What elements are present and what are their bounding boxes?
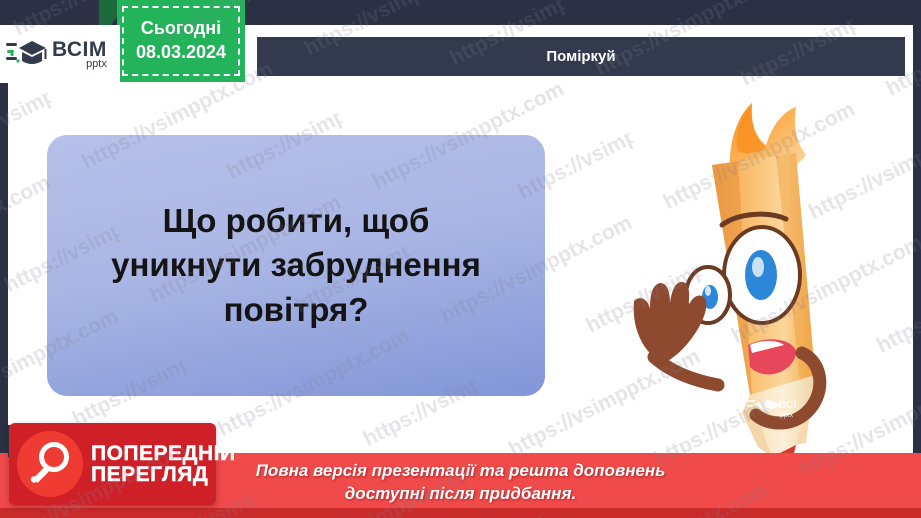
svg-text:pptx: pptx	[780, 412, 794, 419]
preview-badge-line2: ПЕРЕГЛЯД	[91, 464, 236, 485]
question-card: Що робити, щоб уникнути забруднення пові…	[47, 135, 545, 396]
date-flag-value: 08.03.2024	[136, 42, 226, 64]
brand-logo-text: ВСІМ pptx	[52, 39, 107, 70]
brand-name: ВСІМ	[52, 39, 107, 60]
date-flag-label: Сьогодні	[141, 18, 221, 40]
graduation-cap-icon	[6, 37, 48, 71]
presentation-slide: Поміркуй Сьогодні 08.03.2024 ВСІМ pptx	[0, 0, 921, 518]
preview-badge-labels: ПОПЕРЕДНІЙ ПЕРЕГЛЯД	[91, 443, 236, 485]
preview-badge[interactable]: ПОПЕРЕДНІЙ ПЕРЕГЛЯД	[9, 423, 216, 505]
purchase-notice-text: Повна версія презентації та решта доповн…	[256, 460, 666, 506]
question-text: Що робити, щоб уникнути забруднення пові…	[86, 199, 506, 333]
slide-header-title: Поміркуй	[546, 48, 615, 65]
brand-logo: ВСІМ pptx	[0, 25, 120, 83]
magnifier-icon	[17, 431, 83, 497]
purchase-notice-line1: Повна версія презентації та решта доповн…	[256, 461, 666, 480]
date-flag: Сьогодні 08.03.2024	[117, 0, 245, 82]
svg-text:ВСІ: ВСІ	[778, 399, 797, 411]
preview-badge-line1: ПОПЕРЕДНІЙ	[91, 443, 236, 464]
slide-header-bar: Поміркуй	[257, 37, 905, 76]
pencil-character: ВСІ pptx	[600, 95, 921, 495]
purchase-notice-line2: доступні після придбання.	[345, 484, 576, 503]
